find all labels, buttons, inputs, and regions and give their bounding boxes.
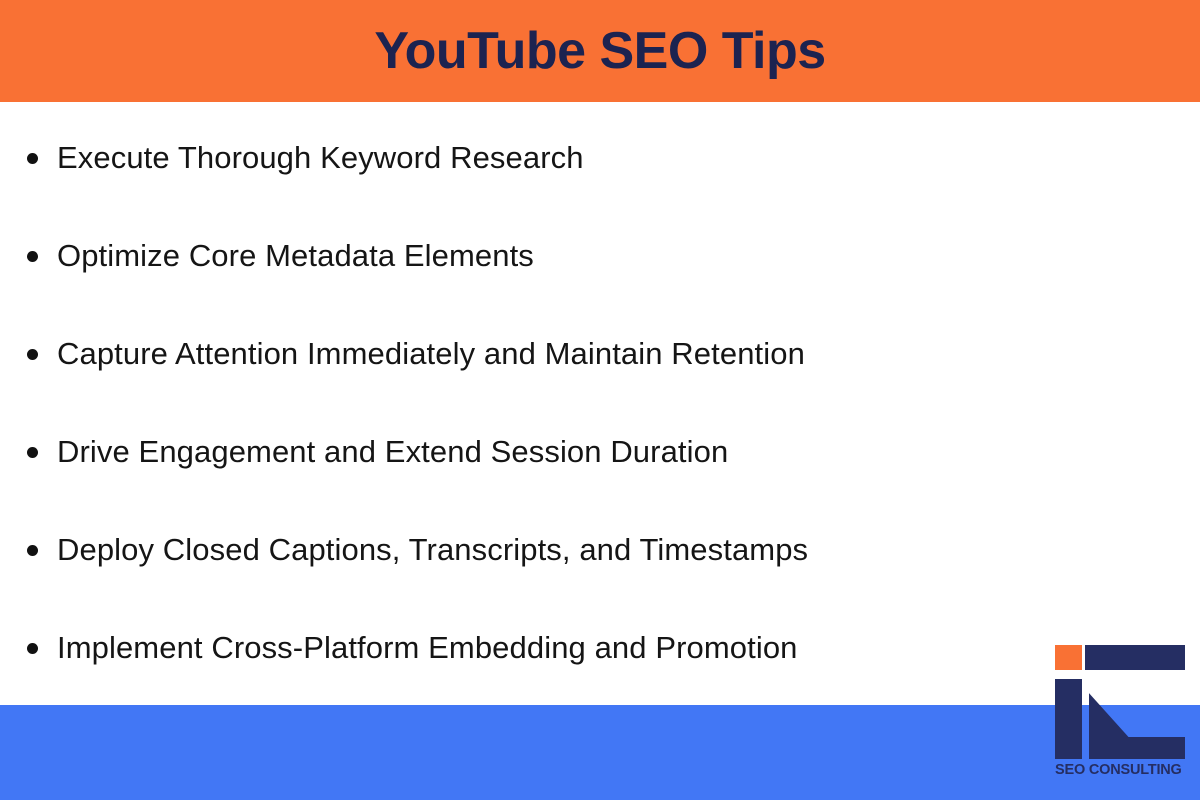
logo-letter-i-icon — [1055, 679, 1082, 759]
list-item: Capture Attention Immediately and Mainta… — [0, 336, 1200, 434]
slide-canvas: YouTube SEO Tips Execute Thorough Keywor… — [0, 0, 1200, 800]
brand-logo: SEO CONSULTING — [1055, 645, 1185, 793]
list-item-label: Capture Attention Immediately and Mainta… — [57, 336, 805, 372]
logo-tagline: SEO CONSULTING — [1055, 763, 1185, 778]
bullet-icon — [27, 251, 38, 262]
tips-list: Execute Thorough Keyword Research Optimi… — [0, 102, 1200, 705]
bullet-icon — [27, 153, 38, 164]
logo-navy-bar-icon — [1085, 645, 1185, 670]
logo-letter-z-base-icon — [1089, 737, 1185, 759]
list-item-label: Optimize Core Metadata Elements — [57, 238, 534, 274]
list-item: Execute Thorough Keyword Research — [0, 140, 1200, 238]
list-item-label: Implement Cross-Platform Embedding and P… — [57, 630, 798, 666]
logo-accent-square-icon — [1055, 645, 1082, 670]
footer-band — [0, 705, 1200, 800]
bullet-icon — [27, 643, 38, 654]
page-title: YouTube SEO Tips — [374, 25, 825, 77]
list-item: Drive Engagement and Extend Session Dura… — [0, 434, 1200, 532]
bullet-icon — [27, 545, 38, 556]
bullet-icon — [27, 349, 38, 360]
list-item: Deploy Closed Captions, Transcripts, and… — [0, 532, 1200, 630]
header-band: YouTube SEO Tips — [0, 0, 1200, 102]
list-item-label: Deploy Closed Captions, Transcripts, and… — [57, 532, 808, 568]
bullet-icon — [27, 447, 38, 458]
list-item: Optimize Core Metadata Elements — [0, 238, 1200, 336]
logo-top-row — [1055, 645, 1185, 670]
list-item-label: Drive Engagement and Extend Session Dura… — [57, 434, 728, 470]
list-item-label: Execute Thorough Keyword Research — [57, 140, 584, 176]
